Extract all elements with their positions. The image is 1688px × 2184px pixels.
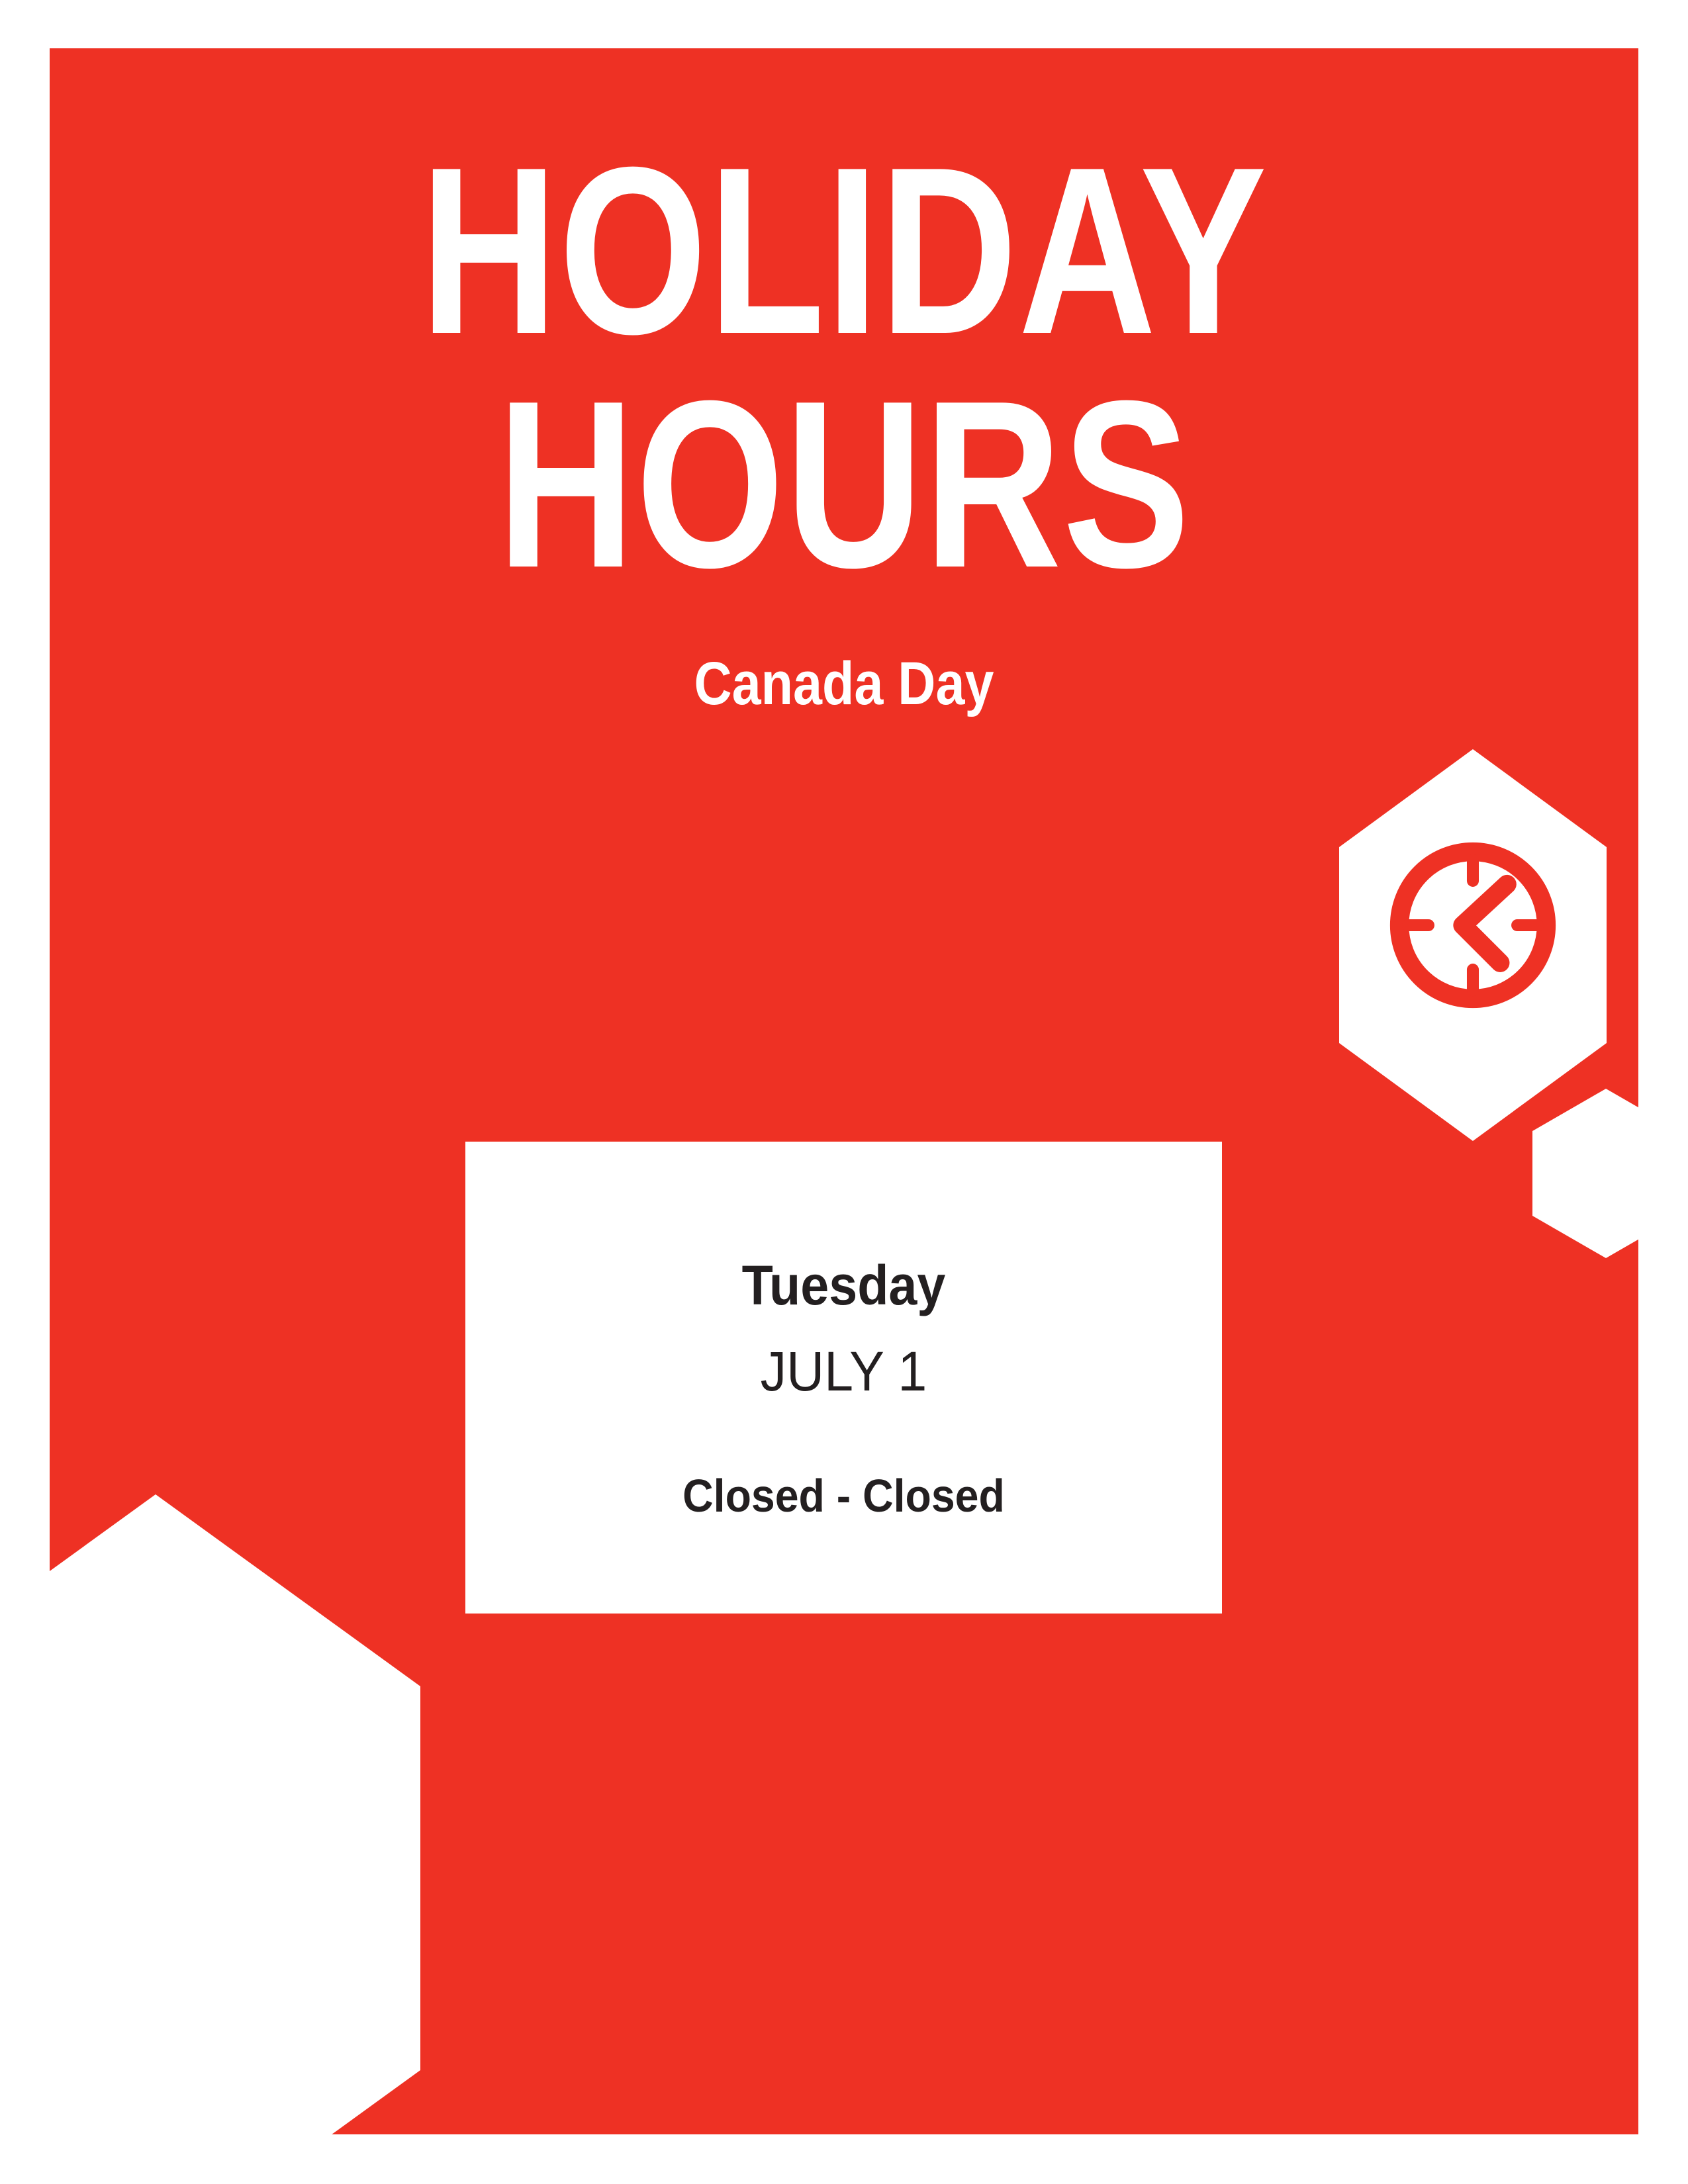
schedule-card: Tuesday JULY 1 Closed - Closed: [465, 1142, 1222, 1614]
clock-icon: [1387, 840, 1558, 1011]
schedule-date: JULY 1: [488, 1343, 1199, 1399]
page-title-line-2: HOURS: [209, 368, 1479, 602]
schedule-hours: Closed - Closed: [496, 1473, 1192, 1519]
page-subtitle: Canada Day: [161, 653, 1527, 714]
hexagon-icon-small: [1532, 1089, 1638, 1258]
hexagon-icon-corner: [50, 1494, 420, 2134]
holiday-hours-poster: HOLIDAY HOURS Canada Day Tuesday JULY 1 …: [0, 0, 1688, 2184]
page-title-line-1: HOLIDAY: [209, 134, 1479, 368]
schedule-day: Tuesday: [496, 1257, 1192, 1313]
red-background-panel: HOLIDAY HOURS Canada Day Tuesday JULY 1 …: [50, 48, 1638, 2134]
headline-block: HOLIDAY HOURS Canada Day: [50, 134, 1638, 714]
